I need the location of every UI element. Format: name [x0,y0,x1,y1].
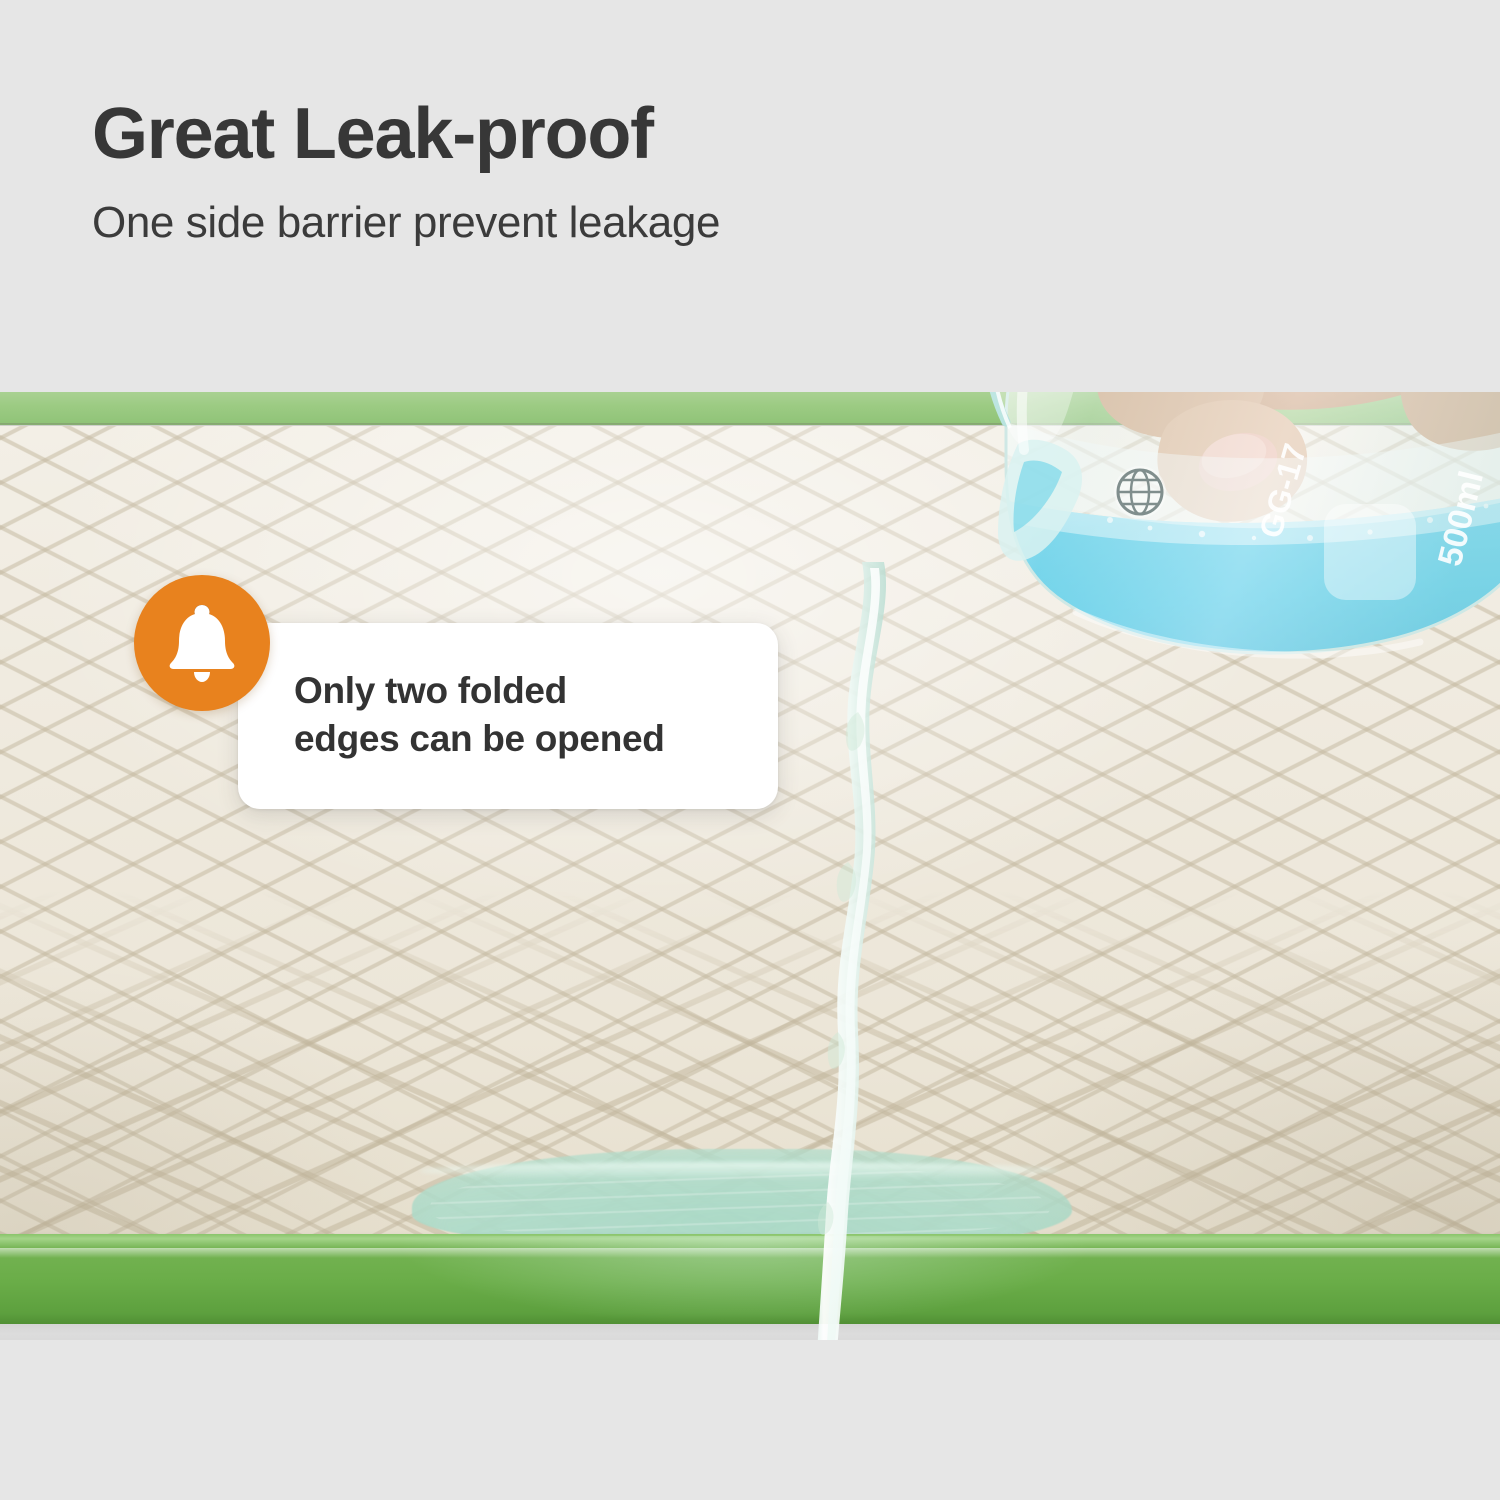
bell-icon [164,603,240,683]
product-feature-panel: Great Leak-proof One side barrier preven… [0,0,1500,1500]
beaker-frosted-panel [1324,504,1416,600]
page-subtitle: One side barrier prevent leakage [92,198,1092,248]
glass-beaker: 500 APPROX 300 200 100 GG-17 500ml [960,392,1500,692]
water-puddle-highlight [420,1162,1060,1180]
callout-line-1: Only two folded [294,667,774,715]
beaker-with-hand: 500 APPROX 300 200 100 GG-17 500ml [810,392,1500,992]
product-photo: 500 APPROX 300 200 100 GG-17 500ml [0,392,1500,1340]
header-block: Great Leak-proof One side barrier preven… [92,96,1092,248]
callout-badge [134,575,270,711]
callout-text: Only two folded edges can be opened [294,667,774,763]
page-title: Great Leak-proof [92,96,1092,172]
callout-line-2: edges can be opened [294,715,774,763]
callout: Only two folded edges can be opened [134,575,794,815]
mat-barrier-wet-sheen [400,1236,1090,1324]
beaker-logo-icon [1114,466,1166,518]
floor-strip [0,1324,1500,1340]
